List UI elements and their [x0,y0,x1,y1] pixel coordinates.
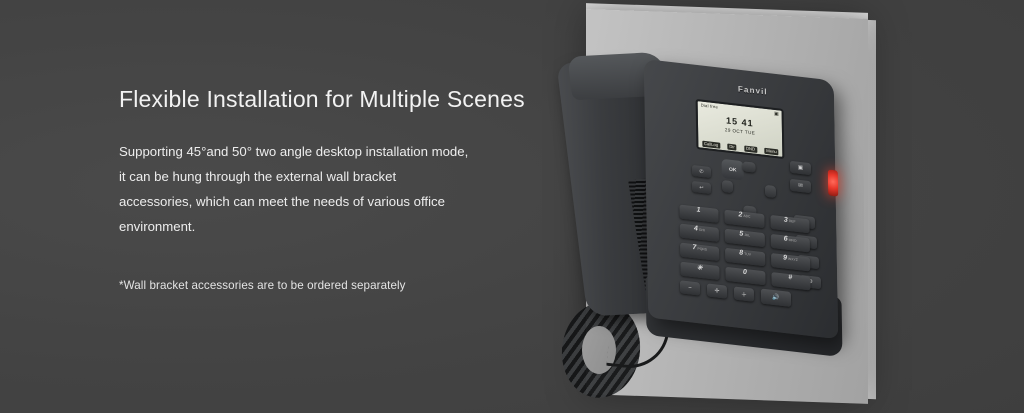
product-feature-banner: Flexible Installation for Multiple Scene… [0,0,1024,413]
key-letters: GHI [699,228,705,233]
nav-right-key[interactable] [765,185,776,198]
nav-up-key[interactable] [743,161,756,173]
key-digit: 8 [739,249,743,256]
copy-block: Flexible Installation for Multiple Scene… [119,86,539,292]
nav-left-key[interactable] [722,180,733,193]
key-8[interactable]: 8TUV [725,248,765,267]
key-9[interactable]: 9WXYZ [771,253,811,272]
key-7[interactable]: 7PQRS [680,243,720,262]
key-letters: JKL [744,233,750,238]
key-digit: 3 [784,216,788,223]
key-6[interactable]: 6MNO [770,234,810,253]
key-digit: 0 [743,269,747,276]
key-digit: # [788,274,792,281]
headset-key[interactable]: ✆ [692,165,711,178]
message-waiting-led [828,169,838,196]
lcd-status-text: Dial free [701,102,718,109]
phone-lcd-screen: Dial free ▣ 15 41 29 OCT TUE CallLog Dir… [696,99,785,159]
softkey-dir[interactable]: Dir [727,143,736,150]
volume-down-key[interactable]: − [680,280,700,295]
numeric-keypad[interactable]: 1 2ABC 3DEF 4GHI 5JKL 6MNO 7PQRS 8TUV 9W… [679,205,810,291]
softkey-calllog[interactable]: CallLog [702,140,720,148]
mute-key[interactable]: ✛ [707,283,727,298]
key-digit: 4 [694,225,698,232]
ip-phone: Fanvil Dial free ▣ 15 41 29 OCT TUE Call… [550,50,890,380]
softkey-dnd[interactable]: DND [744,145,757,153]
key-digit: ✳ [697,263,703,272]
key-letters: ABC [743,214,750,219]
key-4[interactable]: 4GHI [680,224,720,243]
key-letters: DEF [789,219,796,224]
key-letters: PQRS [697,247,707,252]
page-title: Flexible Installation for Multiple Scene… [119,86,539,113]
key-letters: TUV [744,252,751,257]
key-digit: 7 [692,244,696,251]
footnote-text: *Wall bracket accessories are to be orde… [119,279,539,292]
line-key-2[interactable]: ✉ [790,179,811,193]
softkey-menu[interactable]: Menu [764,148,779,156]
nav-ok-key[interactable]: OK [722,159,744,181]
key-digit: 5 [739,230,743,237]
key-letters: WXYZ [788,257,798,262]
body-paragraph: Supporting 45°and 50° two angle desktop … [119,139,471,239]
product-scene: Fanvil Dial free ▣ 15 41 29 OCT TUE Call… [520,0,1024,413]
key-letters: MNO [789,238,797,243]
key-digit: 1 [697,206,701,213]
signal-icon: ▣ [774,111,779,118]
volume-up-key[interactable]: ＋ [734,286,754,301]
key-digit: 6 [784,235,788,242]
key-5[interactable]: 5JKL [725,229,765,248]
key-digit: 9 [783,254,787,261]
transfer-key[interactable]: ↩ [692,181,711,194]
key-digit: 2 [738,211,742,218]
line-key-1[interactable]: ▣ [790,161,811,175]
